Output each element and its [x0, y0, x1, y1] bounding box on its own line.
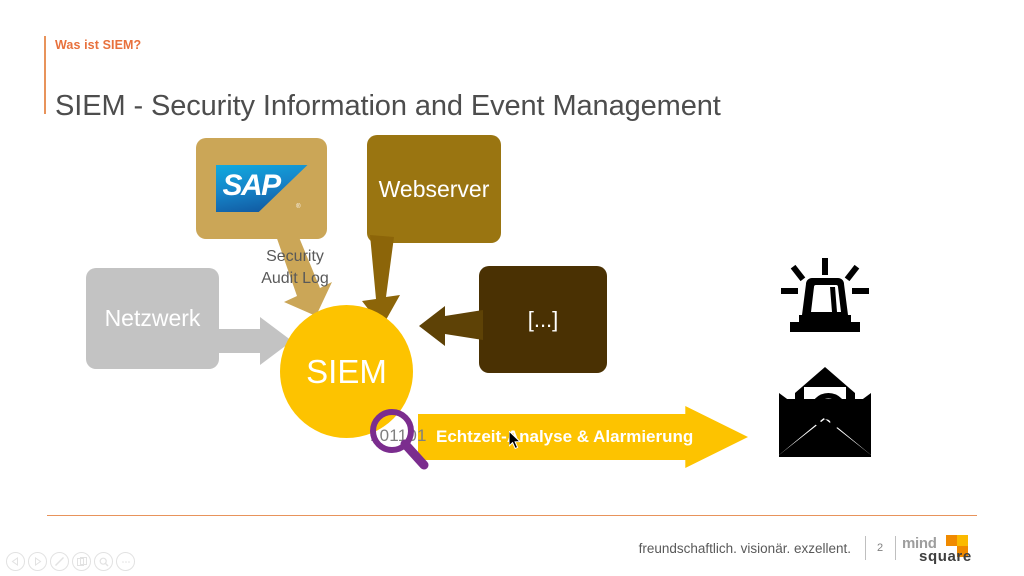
ellipsis-icon — [121, 560, 131, 564]
previous-slide-button[interactable] — [6, 552, 25, 571]
email-envelope-icon — [777, 365, 873, 457]
footer-tagline: freundschaftlich. visionär. exzellent. — [639, 541, 851, 556]
next-slide-button[interactable] — [28, 552, 47, 571]
brand-logo-square-yellow — [957, 535, 968, 546]
sap-logo-text: SAP — [223, 170, 280, 202]
sap-registered-mark: ® — [296, 204, 300, 210]
source-node-network[interactable]: Netzwerk — [86, 268, 219, 369]
edge-label-security-audit-log: Security Audit Log — [247, 246, 343, 290]
siem-diagram: SAP ® Webserver Netzwerk [...] Security … — [0, 0, 1024, 520]
magnifying-glass-icon — [366, 405, 432, 471]
magnifier-icon — [99, 557, 109, 567]
source-node-other[interactable]: [...] — [479, 266, 607, 373]
triangle-right-icon — [33, 557, 42, 566]
footer-separator-right — [895, 536, 896, 560]
slide-overview-button[interactable] — [72, 552, 91, 571]
viewer-toolbar — [6, 552, 135, 571]
alarm-siren-icon — [779, 258, 871, 334]
banner-arrow-label: Echtzeit-Analyse & Alarmierung — [436, 406, 693, 468]
more-options-button[interactable] — [116, 552, 135, 571]
source-node-webserver[interactable]: Webserver — [367, 135, 501, 243]
footer-separator-left — [865, 536, 866, 560]
brand-logo-square-orange — [946, 535, 957, 546]
page-number: 2 — [873, 542, 887, 554]
brand-logo-square: square — [919, 548, 972, 565]
grid-icon — [77, 557, 87, 567]
realtime-analysis-banner-arrow[interactable]: Echtzeit-Analyse & Alarmierung — [418, 406, 748, 468]
pen-tool-button[interactable] — [50, 552, 69, 571]
mindsquare-logo: mind square — [902, 535, 1006, 567]
triangle-left-icon — [11, 557, 20, 566]
arrow-other-to-siem — [419, 300, 485, 352]
source-node-sap[interactable]: SAP ® — [196, 138, 327, 239]
footer-divider — [47, 515, 977, 516]
edge-label-line-1: Security — [247, 246, 343, 268]
edge-label-line-2: Audit Log — [247, 268, 343, 290]
zoom-button[interactable] — [94, 552, 113, 571]
pen-icon — [54, 556, 65, 567]
sap-logo: SAP ® — [216, 165, 308, 212]
